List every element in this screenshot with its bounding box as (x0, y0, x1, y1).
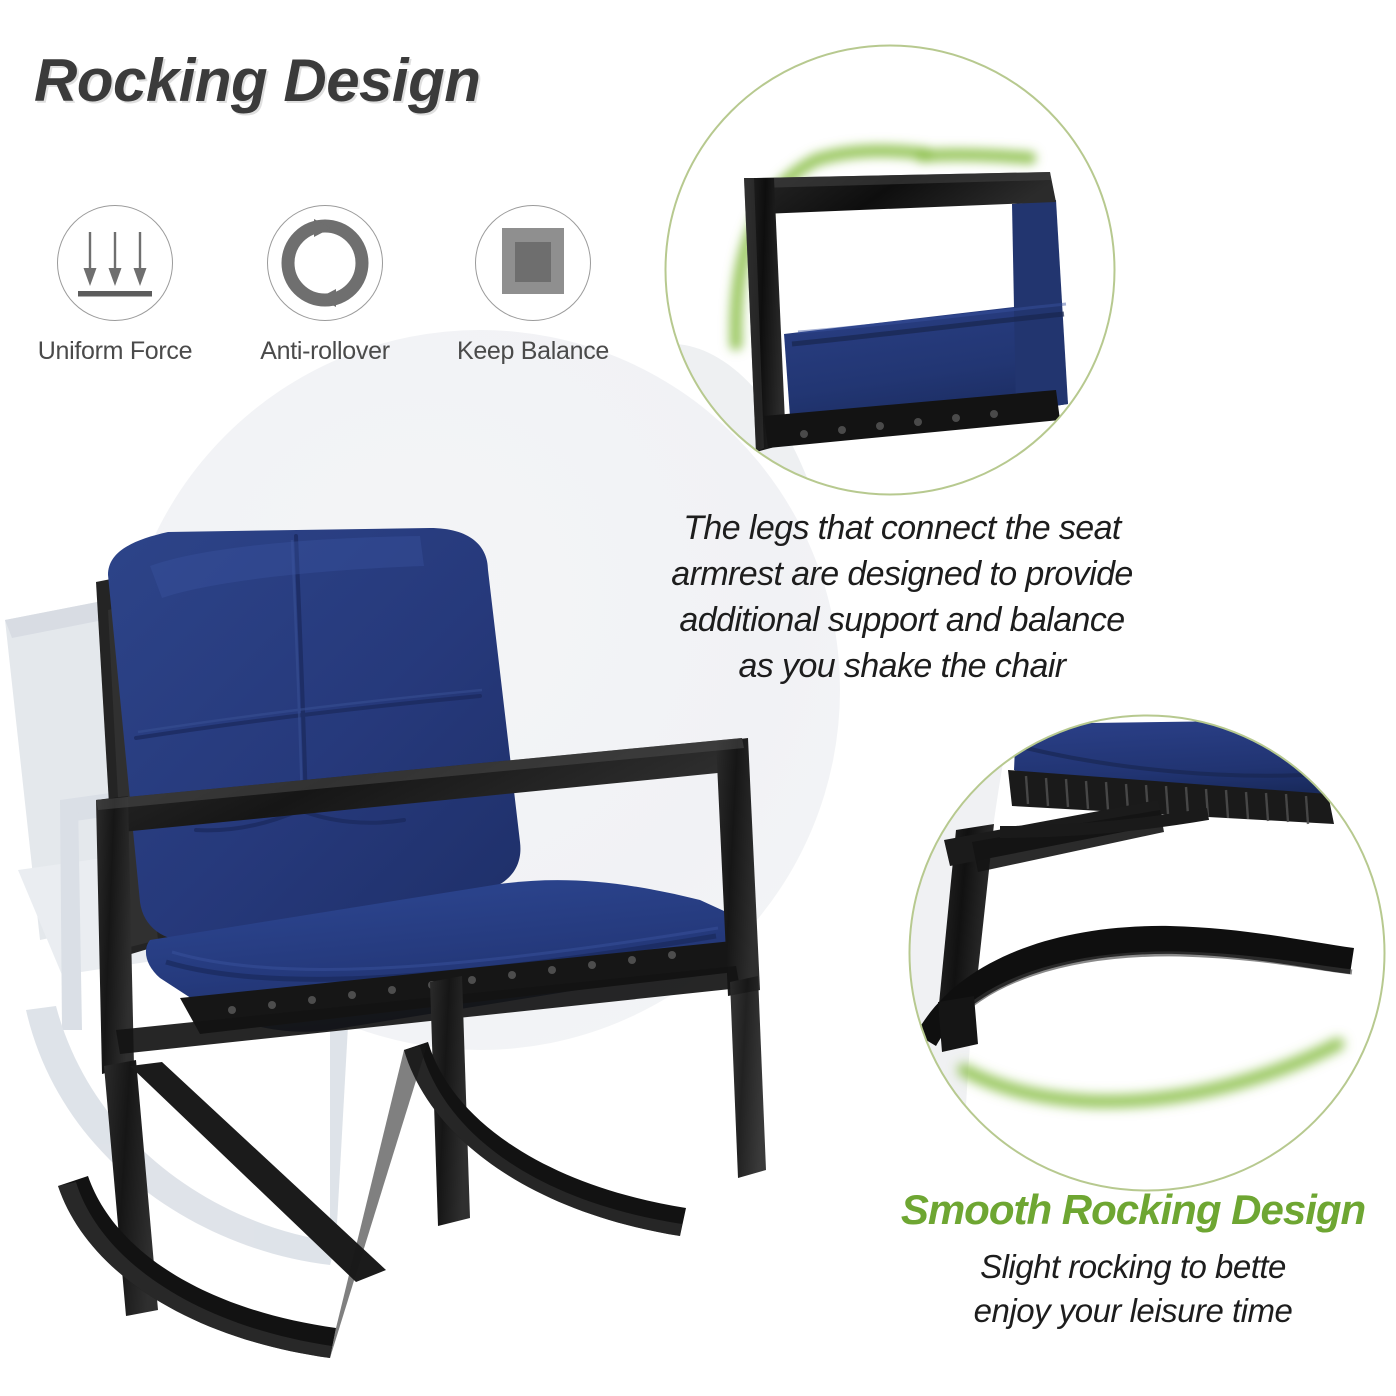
armrest-leg-closeup-image (664, 44, 1116, 496)
feature-uniform-force: Uniform Force (20, 205, 210, 366)
back-cushion (108, 528, 520, 941)
subtext-line: Slight rocking to bette (868, 1245, 1396, 1289)
feature-icon-row: Uniform Force Anti-rollover (20, 205, 620, 395)
rotation-arrows-icon (268, 206, 382, 320)
caption-line: The legs that connect the seat (612, 505, 1192, 551)
nested-squares-icon (476, 206, 590, 320)
subtext-line: enjoy your leisure time (868, 1289, 1396, 1333)
down-arrows-on-bar-icon (58, 206, 172, 320)
feature-icon-ring (475, 205, 591, 321)
feature-icon-ring (57, 205, 173, 321)
feature-label: Keep Balance (438, 337, 628, 366)
callout-armrest-leg (664, 44, 1116, 496)
page-title: Rocking Design (34, 46, 480, 115)
caption-line: as you shake the chair (612, 643, 1192, 689)
feature-label: Anti-rollover (230, 337, 420, 366)
caption-line: armrest are designed to provide (612, 551, 1192, 597)
feature-label: Uniform Force (20, 337, 210, 366)
smooth-rocking-subtext: Slight rocking to bette enjoy your leisu… (868, 1245, 1396, 1333)
caption-line: additional support and balance (612, 597, 1192, 643)
feature-icon-ring (267, 205, 383, 321)
feature-keep-balance: Keep Balance (438, 205, 628, 366)
rocker-runner-closeup-image (908, 714, 1386, 1192)
infographic-canvas: Rocking Design (0, 0, 1396, 1396)
armrest-caption: The legs that connect the seat armrest a… (612, 505, 1192, 689)
feature-anti-rollover: Anti-rollover (230, 205, 420, 366)
smooth-rocking-heading: Smooth Rocking Design (868, 1186, 1396, 1234)
callout-rocker-runner (908, 714, 1386, 1192)
